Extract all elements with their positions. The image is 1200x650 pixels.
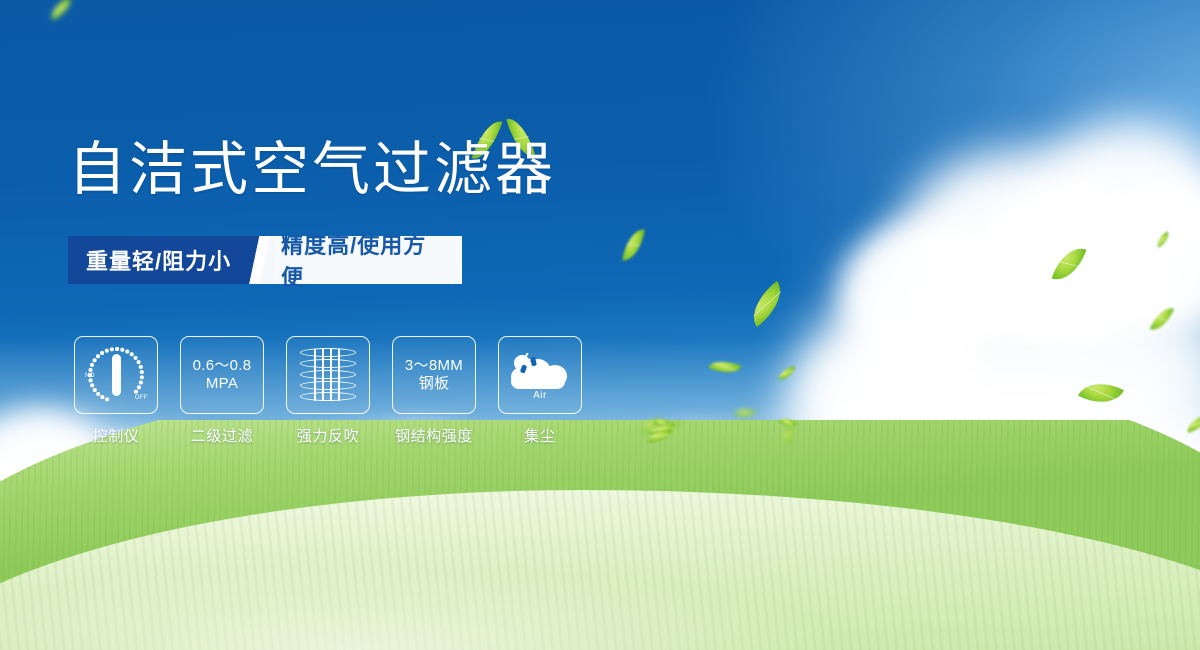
grass-highlight bbox=[0, 500, 1200, 650]
feature-label: 强力反吹 bbox=[297, 425, 359, 446]
subtitle-divider-slash bbox=[247, 236, 273, 284]
feature-tile[interactable]: NO OFF bbox=[74, 336, 158, 414]
feature-label: 集尘 bbox=[524, 425, 555, 446]
dial-tick-dot bbox=[134, 356, 138, 360]
product-hero-banner: 自洁式空气过滤器 重量轻/阻力小 精度高/使用方便 NO OFF 控制仪 0.6… bbox=[0, 0, 1200, 650]
feature-label: 钢结构强度 bbox=[395, 425, 473, 446]
dial-tick-dot bbox=[89, 379, 93, 383]
dial-tick-dot bbox=[90, 384, 94, 388]
feature-tile[interactable]: 0.6～0.8 MPA bbox=[180, 336, 264, 414]
dial-tick-dot bbox=[90, 363, 94, 367]
dial-tick-dot bbox=[93, 359, 97, 363]
dial-needle-icon bbox=[112, 354, 121, 396]
dial-tick-dot bbox=[100, 351, 104, 355]
pressure-unit-text: MPA bbox=[206, 375, 238, 393]
dial-tick-dot bbox=[140, 376, 144, 380]
feature-label: 二级过滤 bbox=[191, 425, 253, 446]
control-dial-icon: NO OFF bbox=[86, 345, 146, 405]
dial-tick-dot bbox=[115, 347, 119, 351]
dial-tick-dot bbox=[139, 381, 143, 385]
dial-tick-dot bbox=[120, 348, 124, 352]
dial-tick-dot bbox=[96, 355, 100, 359]
dial-tick-dot bbox=[140, 370, 144, 374]
dial-tick-dot bbox=[101, 395, 105, 399]
dial-tick-dot bbox=[130, 352, 134, 356]
dial-tick-dot bbox=[89, 368, 93, 372]
dial-tick-dot bbox=[105, 349, 109, 353]
feature-item-steel[interactable]: 3～8MM 钢板 钢结构强度 bbox=[392, 336, 476, 446]
dial-tick-dot bbox=[96, 392, 100, 396]
page-title: 自洁式空气过滤器 bbox=[68, 140, 556, 201]
filter-coil-icon bbox=[300, 345, 356, 405]
feature-item-pressure[interactable]: 0.6～0.8 MPA 二级过滤 bbox=[180, 336, 264, 446]
grass-field bbox=[0, 420, 1200, 650]
dial-tick-dot bbox=[134, 390, 138, 394]
feature-item-blowback[interactable]: 强力反吹 bbox=[286, 336, 370, 446]
dial-tick-dot bbox=[139, 365, 143, 369]
feature-tile[interactable]: Air bbox=[498, 336, 582, 414]
feature-tile[interactable]: 3～8MM 钢板 bbox=[392, 336, 476, 414]
air-caption: Air bbox=[509, 390, 571, 401]
dial-tick-dot bbox=[137, 360, 141, 364]
steel-plate-text-icon: 3～8MM bbox=[405, 357, 463, 375]
feature-label: 控制仪 bbox=[93, 425, 140, 446]
dial-tick-dot bbox=[88, 373, 92, 377]
feature-item-control-dial[interactable]: NO OFF 控制仪 bbox=[74, 336, 158, 446]
dial-tick-dot bbox=[93, 388, 97, 392]
air-cloud-icon: Air bbox=[509, 353, 571, 397]
subtitle-bar: 重量轻/阻力小 精度高/使用方便 bbox=[68, 236, 462, 284]
subtitle-left-text: 重量轻/阻力小 bbox=[68, 236, 247, 284]
dial-tick-dot bbox=[137, 386, 141, 390]
dial-tick-dot bbox=[105, 398, 109, 402]
feature-item-dust-collection[interactable]: Air 集尘 bbox=[498, 336, 582, 446]
feature-tile[interactable] bbox=[286, 336, 370, 414]
dial-off-label: OFF bbox=[135, 395, 148, 401]
feature-list: NO OFF 控制仪 0.6～0.8 MPA 二级过滤 bbox=[74, 336, 582, 446]
subtitle-right-text: 精度高/使用方便 bbox=[273, 236, 462, 284]
dial-tick-dot bbox=[110, 348, 114, 352]
steel-plate-material-text: 钢板 bbox=[419, 375, 450, 393]
pressure-text-icon: 0.6～0.8 bbox=[193, 357, 252, 375]
dial-tick-dot bbox=[125, 350, 129, 354]
